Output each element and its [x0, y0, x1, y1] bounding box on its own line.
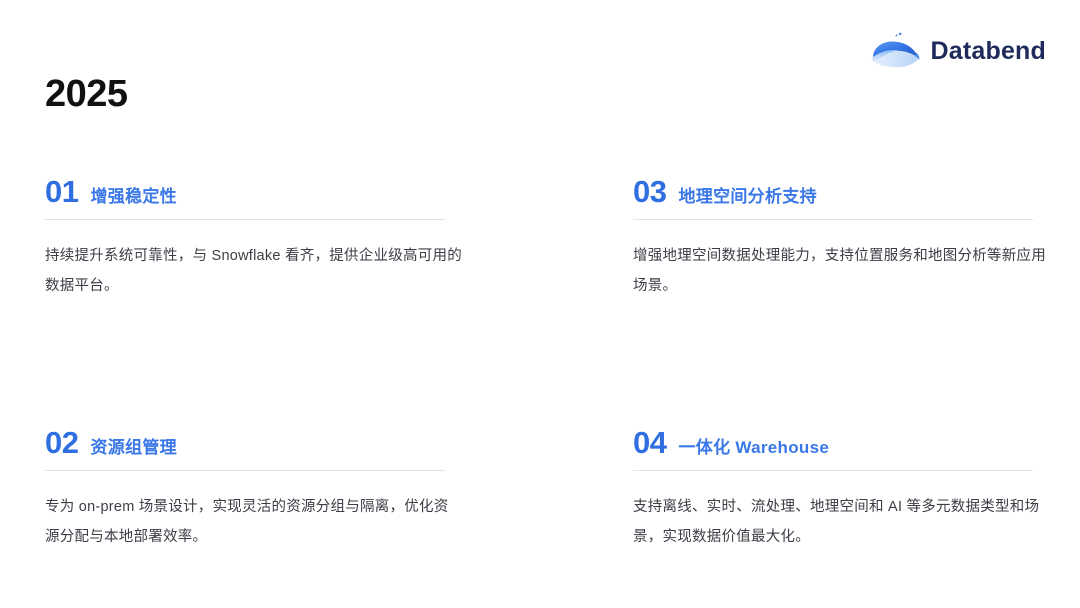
roadmap-item-01-description: 持续提升系统可靠性，与 Snowflake 看齐，提供企业级高可用的数据平台。	[45, 242, 463, 301]
roadmap-item-01-divider	[45, 219, 445, 220]
roadmap-item-02-number: 02	[45, 427, 78, 458]
whale-logo-icon	[870, 31, 920, 71]
roadmap-item-04-title: 一体化 Warehouse	[678, 439, 829, 456]
brand-logo: Databend	[870, 30, 1046, 72]
roadmap-item-03-title: 地理空间分析支持	[678, 188, 816, 205]
roadmap-item-01-header: 01 增强稳定性	[45, 176, 445, 215]
roadmap-item-03-header: 03 地理空间分析支持	[633, 176, 1033, 215]
roadmap-item-04: 04 一体化 Warehouse 支持离线、实时、流处理、地理空间和 AI 等多…	[633, 427, 1033, 552]
roadmap-items-grid: 01 增强稳定性 持续提升系统可靠性，与 Snowflake 看齐，提供企业级高…	[45, 176, 1033, 553]
page-title: 2025	[45, 74, 128, 116]
roadmap-item-02-header: 02 资源组管理	[45, 427, 445, 466]
roadmap-item-03-divider	[633, 219, 1033, 220]
roadmap-item-02-description: 专为 on-prem 场景设计，实现灵活的资源分组与隔离，优化资源分配与本地部署…	[45, 493, 463, 552]
roadmap-item-02-title: 资源组管理	[90, 439, 177, 456]
roadmap-item-03-number: 03	[633, 176, 666, 207]
roadmap-item-04-header: 04 一体化 Warehouse	[633, 427, 1033, 466]
roadmap-item-02: 02 资源组管理 专为 on-prem 场景设计，实现灵活的资源分组与隔离，优化…	[45, 427, 445, 552]
roadmap-item-02-divider	[45, 470, 445, 471]
roadmap-item-03: 03 地理空间分析支持 增强地理空间数据处理能力，支持位置服务和地图分析等新应用…	[633, 176, 1033, 301]
roadmap-item-01-title: 增强稳定性	[90, 188, 177, 205]
brand-name: Databend	[930, 39, 1046, 64]
roadmap-item-04-description: 支持离线、实时、流处理、地理空间和 AI 等多元数据类型和场景，实现数据价值最大…	[633, 493, 1051, 552]
roadmap-item-03-description: 增强地理空间数据处理能力，支持位置服务和地图分析等新应用场景。	[633, 242, 1051, 301]
roadmap-item-01-number: 01	[45, 176, 78, 207]
roadmap-item-04-divider	[633, 470, 1033, 471]
roadmap-item-04-number: 04	[633, 427, 666, 458]
roadmap-item-01: 01 增强稳定性 持续提升系统可靠性，与 Snowflake 看齐，提供企业级高…	[45, 176, 445, 301]
